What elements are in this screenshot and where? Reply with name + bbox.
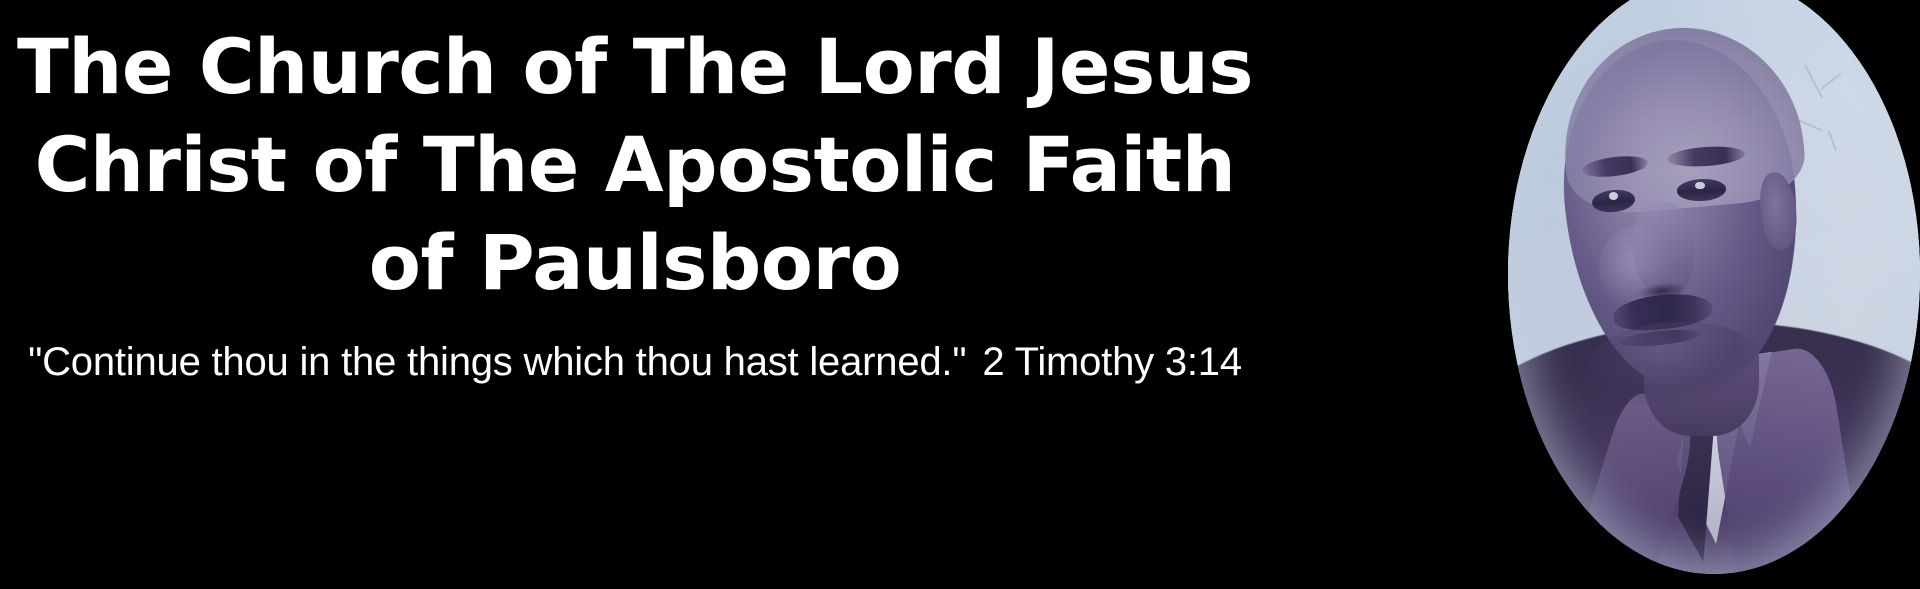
- scripture-reference: 2 Timothy 3:14: [982, 340, 1242, 384]
- portrait-photo: [1508, 0, 1920, 574]
- headline-line-2: Christ of The Apostolic Faith: [0, 116, 1270, 214]
- page-title: The Church of The Lord Jesus Christ of T…: [0, 18, 1270, 312]
- portrait-vignette: [1508, 0, 1920, 574]
- scripture-subtitle: "Continue thou in the things which thou …: [0, 336, 1270, 388]
- scripture-quote: "Continue thou in the things which thou …: [28, 340, 966, 384]
- church-banner: The Church of The Lord Jesus Christ of T…: [0, 0, 1920, 589]
- headline-line-1: The Church of The Lord Jesus: [0, 18, 1270, 116]
- portrait-oval-frame: [1508, 0, 1920, 574]
- headline-line-3: of Paulsboro: [0, 214, 1270, 312]
